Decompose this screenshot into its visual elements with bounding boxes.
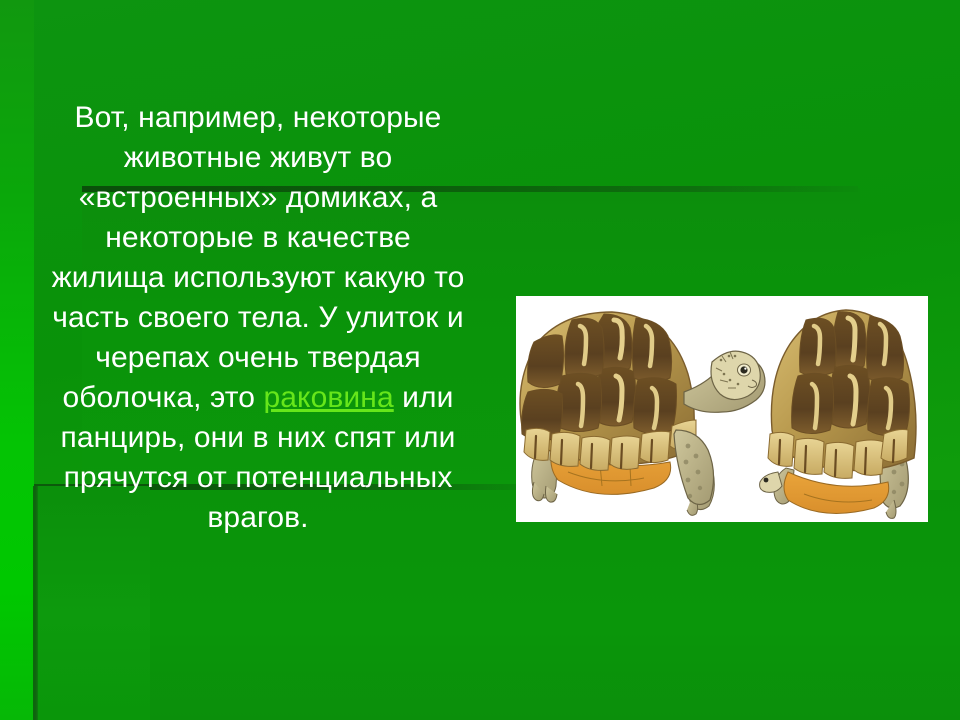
rakovina-link[interactable]: раковина bbox=[263, 381, 393, 414]
tortoises-image bbox=[516, 296, 928, 522]
tortoises-illustration-svg bbox=[516, 296, 928, 522]
presentation-slide: Вот, например, некоторые животные живут … bbox=[0, 0, 960, 720]
background-left-accent-strip bbox=[0, 0, 34, 720]
body-text-before-link: Вот, например, некоторые животные живут … bbox=[52, 101, 465, 414]
body-paragraph: Вот, например, некоторые животные живут … bbox=[48, 98, 468, 538]
slide-body-text: Вот, например, некоторые животные живут … bbox=[48, 58, 468, 578]
background-left-divider bbox=[33, 486, 38, 720]
